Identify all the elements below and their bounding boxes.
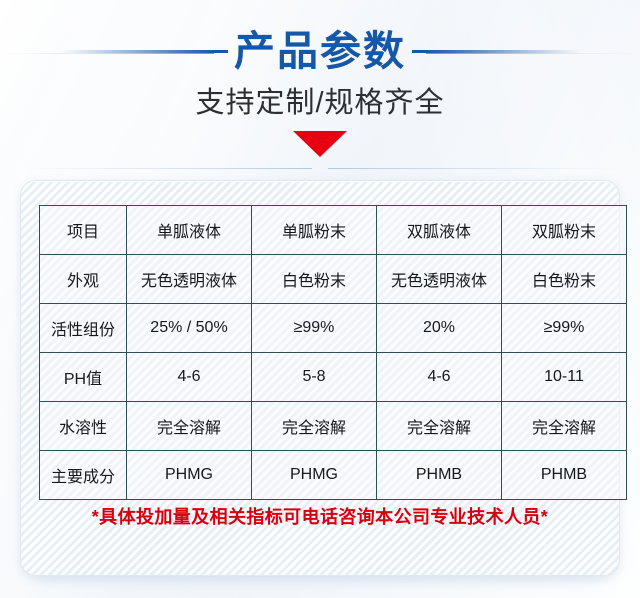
- table-cell: 白色粉末: [252, 255, 377, 304]
- decorative-hairline-lower-left: [22, 168, 312, 169]
- page-title: 产品参数: [228, 31, 412, 72]
- column-header-item: 项目: [40, 206, 127, 255]
- table-cell: PHMG: [252, 451, 377, 500]
- table-cell: ≥99%: [252, 304, 377, 353]
- table-cell: ≥99%: [502, 304, 627, 353]
- table-row: 外观 无色透明液体 白色粉末 无色透明液体 白色粉末: [40, 255, 627, 304]
- page-subtitle: 支持定制/规格齐全: [0, 86, 640, 121]
- table-cell: 完全溶解: [252, 402, 377, 451]
- title-rule-left-icon: [60, 50, 228, 53]
- triangle-down-icon: [293, 131, 347, 157]
- product-parameters-page: 产品参数 支持定制/规格齐全 项目 单胍液体 单胍粉末 双胍液体 双胍粉末 外观…: [0, 0, 640, 598]
- arrow-wrapper: [0, 131, 640, 157]
- table-cell: 20%: [377, 304, 502, 353]
- table-body: 项目 单胍液体 单胍粉末 双胍液体 双胍粉末 外观 无色透明液体 白色粉末 无色…: [40, 206, 627, 500]
- page-header: 产品参数 支持定制/规格齐全: [0, 0, 640, 157]
- table-cell: PHMB: [377, 451, 502, 500]
- table-cell: 25% / 50%: [127, 304, 252, 353]
- table-cell: PHMG: [127, 451, 252, 500]
- table-cell: 完全溶解: [127, 402, 252, 451]
- row-label: 外观: [40, 255, 127, 304]
- table-cell: 5-8: [252, 353, 377, 402]
- table-header-row: 项目 单胍液体 单胍粉末 双胍液体 双胍粉末: [40, 206, 627, 255]
- table-cell: PHMB: [502, 451, 627, 500]
- table-row: 水溶性 完全溶解 完全溶解 完全溶解 完全溶解: [40, 402, 627, 451]
- table-row: PH值 4-6 5-8 4-6 10-11: [40, 353, 627, 402]
- table-cell: 白色粉末: [502, 255, 627, 304]
- table-cell: 4-6: [377, 353, 502, 402]
- table-cell: 完全溶解: [502, 402, 627, 451]
- footer-note: *具体投加量及相关指标可电话咨询本公司专业技术人员*: [21, 503, 619, 529]
- table-cell: 4-6: [127, 353, 252, 402]
- table-cell: 无色透明液体: [377, 255, 502, 304]
- table-cell: 10-11: [502, 353, 627, 402]
- column-header-col-3: 双胍液体: [377, 206, 502, 255]
- row-label: 主要成分: [40, 451, 127, 500]
- row-label: PH值: [40, 353, 127, 402]
- table-row: 主要成分 PHMG PHMG PHMB PHMB: [40, 451, 627, 500]
- parameters-table: 项目 单胍液体 单胍粉末 双胍液体 双胍粉末 外观 无色透明液体 白色粉末 无色…: [39, 205, 627, 500]
- title-rule-right-icon: [412, 50, 580, 53]
- title-row: 产品参数: [0, 20, 640, 82]
- row-label: 水溶性: [40, 402, 127, 451]
- table-cell: 无色透明液体: [127, 255, 252, 304]
- decorative-hairline-lower-right: [328, 168, 618, 169]
- row-label: 活性组份: [40, 304, 127, 353]
- parameters-card: 项目 单胍液体 单胍粉末 双胍液体 双胍粉末 外观 无色透明液体 白色粉末 无色…: [20, 180, 620, 576]
- table-cell: 完全溶解: [377, 402, 502, 451]
- table-row: 活性组份 25% / 50% ≥99% 20% ≥99%: [40, 304, 627, 353]
- column-header-col-2: 单胍粉末: [252, 206, 377, 255]
- column-header-col-1: 单胍液体: [127, 206, 252, 255]
- column-header-col-4: 双胍粉末: [502, 206, 627, 255]
